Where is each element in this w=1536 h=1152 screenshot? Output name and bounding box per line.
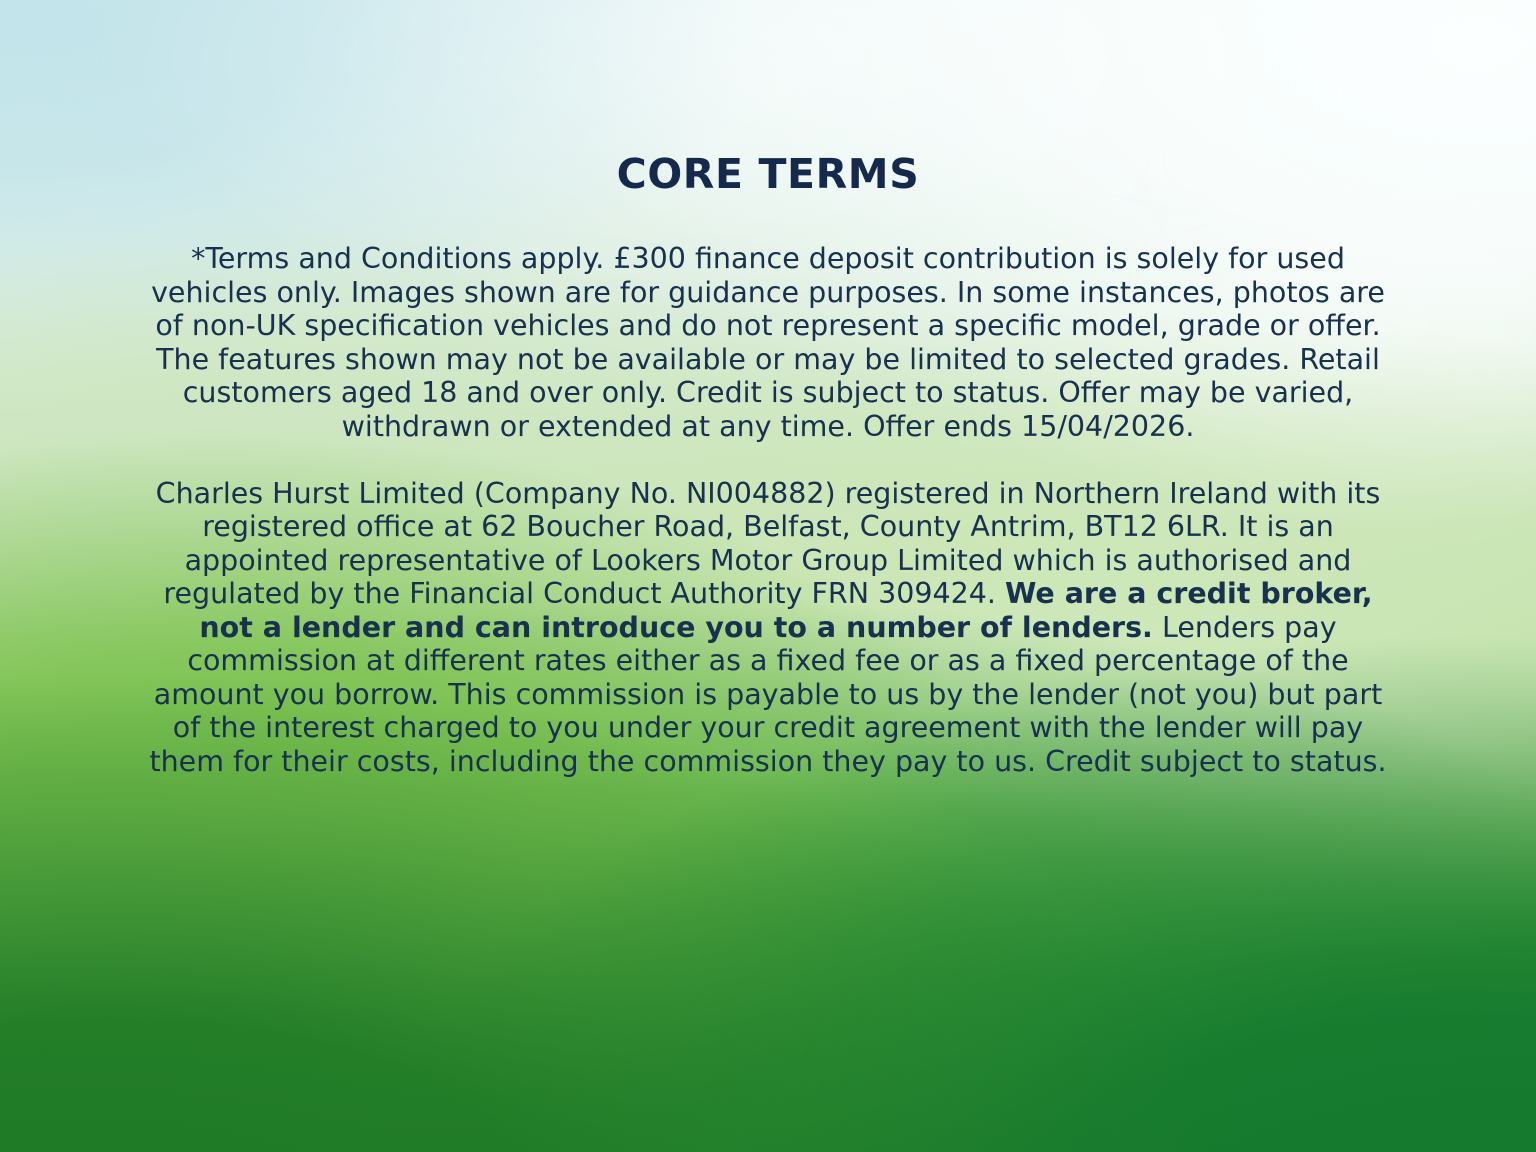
regulatory-paragraph: Charles Hurst Limited (Company No. NI004… [141,477,1395,778]
disclaimer-paragraph: *Terms and Conditions apply. £300 financ… [141,242,1395,443]
terms-body: *Terms and Conditions apply. £300 financ… [141,242,1395,778]
page-title: CORE TERMS [0,152,1536,197]
slide-content: CORE TERMS *Terms and Conditions apply. … [0,0,1536,1152]
